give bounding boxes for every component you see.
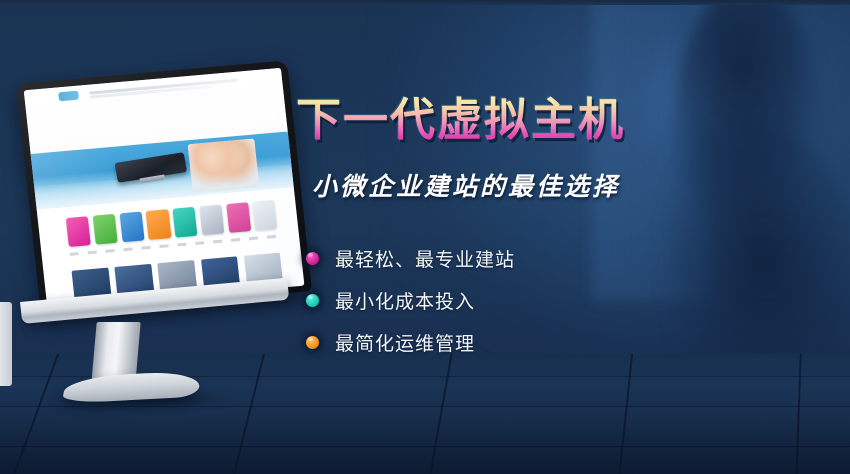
website-app-icon-pink <box>66 217 91 247</box>
monitor-screen <box>24 68 305 308</box>
headline: 下一代虚拟主机 <box>296 96 716 145</box>
bullet-dot-magenta <box>306 252 319 265</box>
background-top-edge <box>0 0 850 5</box>
feature-label: 最小化成本投入 <box>335 287 475 314</box>
floor-bottom-shade <box>0 418 850 474</box>
website-app-icon-gray <box>199 205 224 235</box>
website-hero-person-photo <box>188 138 260 193</box>
feature-label: 最轻松、最专业建站 <box>335 245 515 272</box>
subheadline: 小微企业建站的最佳选择 <box>312 167 716 203</box>
website-app-icon-green <box>93 214 118 244</box>
promo-text-block: 下一代虚拟主机 小微企业建站的最佳选择 最轻松、最专业建站 最小化成本投入 最简… <box>296 96 716 371</box>
monitor-bezel <box>16 60 312 314</box>
promo-banner: 下一代虚拟主机 小微企业建站的最佳选择 最轻松、最专业建站 最小化成本投入 最简… <box>0 0 850 474</box>
feature-item: 最小化成本投入 <box>306 287 716 314</box>
website-app-icon-blue <box>119 212 144 242</box>
feature-item: 最简化运维管理 <box>306 329 716 356</box>
website-app-icon-rose <box>226 203 251 233</box>
monitor-side-panel <box>0 302 12 386</box>
bullet-dot-teal <box>306 294 319 307</box>
monitor-screen-wrap <box>16 60 312 314</box>
website-logo <box>58 90 79 101</box>
website-app-icon-light <box>252 200 277 230</box>
feature-label: 最简化运维管理 <box>335 329 475 356</box>
feature-list: 最轻松、最专业建站 最小化成本投入 最简化运维管理 <box>306 245 716 356</box>
website-app-icon-orange <box>146 210 171 240</box>
feature-item: 最轻松、最专业建站 <box>306 245 716 272</box>
website-nav-line <box>89 78 238 94</box>
desktop-monitor <box>8 84 300 394</box>
website-app-icon-teal <box>173 207 198 237</box>
bullet-dot-orange <box>306 336 319 349</box>
